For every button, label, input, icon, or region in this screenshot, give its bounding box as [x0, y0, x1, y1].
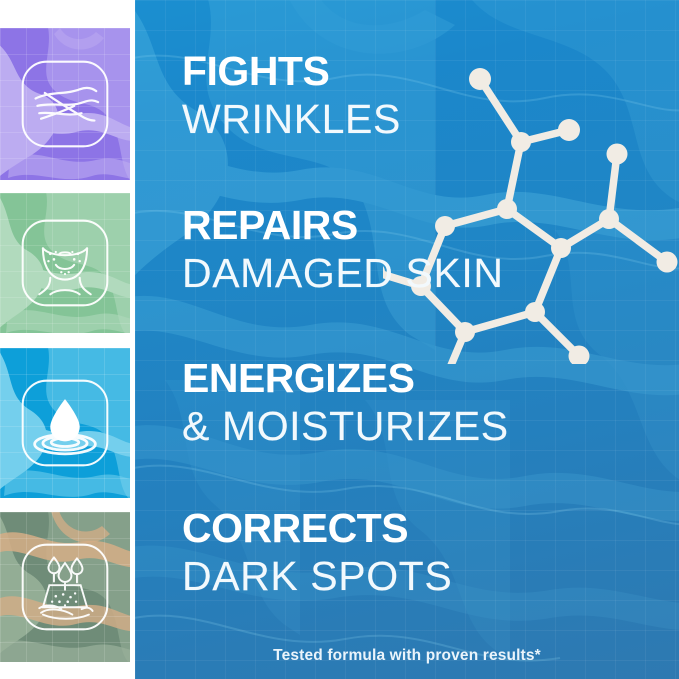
- footnote-text: Tested formula with proven results*: [135, 647, 679, 665]
- blemished-face-icon: [19, 217, 111, 309]
- droplets-on-skin-icon: [19, 541, 111, 633]
- product-benefit-poster: FIGHTS WRINKLES REPAIRS DAMAGED SKIN ENE…: [0, 0, 679, 679]
- claim-headline: REPAIRS: [182, 202, 504, 248]
- claim-subline: DARK SPOTS: [182, 551, 452, 601]
- claim-headline: CORRECTS: [182, 505, 452, 551]
- claim-headline: FIGHTS: [182, 48, 401, 94]
- main-blue-panel: FIGHTS WRINKLES REPAIRS DAMAGED SKIN ENE…: [135, 0, 679, 679]
- claim-subline: WRINKLES: [182, 94, 401, 144]
- claims-list: FIGHTS WRINKLES REPAIRS DAMAGED SKIN ENE…: [182, 0, 672, 679]
- claim-subline: DAMAGED SKIN: [182, 248, 504, 298]
- claim-fights-wrinkles: FIGHTS WRINKLES: [182, 48, 401, 144]
- claim-corrects-dark-spots: CORRECTS DARK SPOTS: [182, 505, 452, 601]
- claim-energizes-moisturizes: ENERGIZES & MOISTURIZES: [182, 355, 509, 451]
- tile-dark-spots: [0, 512, 130, 662]
- claim-headline: ENERGIZES: [182, 355, 509, 401]
- water-droplet-ripple-icon: [19, 377, 111, 469]
- claim-subline: & MOISTURIZES: [182, 401, 509, 451]
- tile-damaged-skin: [0, 193, 130, 333]
- tile-wrinkles: [0, 28, 130, 180]
- wrinkle-lines-icon: [19, 58, 111, 150]
- claim-repairs-damaged-skin: REPAIRS DAMAGED SKIN: [182, 202, 504, 298]
- tile-moisture: [0, 348, 130, 498]
